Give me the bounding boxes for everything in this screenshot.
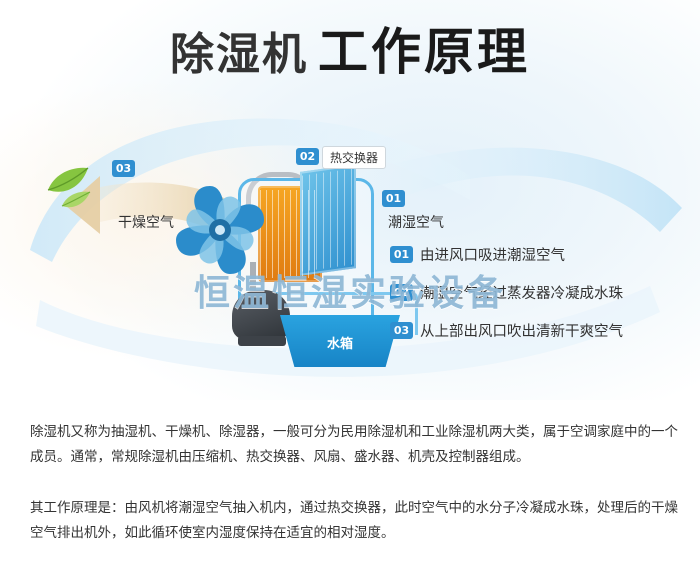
infographic-page: 除湿机工作原理 水箱 [0,0,700,566]
step-3-badge: 03 [390,322,413,339]
title-main-text: 除湿机 [170,27,308,83]
paragraph-2: 其工作原理是：由风机将潮湿空气抽入机内，通过热交换器，此时空气中的水分子冷凝成水… [30,496,680,546]
title-accent-text: 工作原理 [318,24,530,80]
illustration-area: 除湿机工作原理 水箱 [0,0,700,400]
step-1-text: 由进风口吸进潮湿空气 [420,248,565,264]
step-line-1: 01由进风口吸进潮湿空气 [390,244,565,265]
heat-exchanger-label: 热交换器 [322,146,386,169]
heat-exchanger-fins [302,168,354,271]
leaves-icon [40,156,110,216]
humid-air-label: 潮湿空气 [388,212,444,232]
compressor-base [238,336,286,346]
step-line-3: 03从上部出风口吹出清新干爽空气 [390,320,623,341]
body-text-area: 除湿机又称为抽湿机、干燥机、除湿器，一般可分为民用除湿机和工业除湿机两大类，属于… [0,400,700,566]
badge-02: 02 [296,148,319,165]
dry-air-label: 干燥空气 [118,212,174,232]
badge-01: 01 [382,190,405,207]
page-title: 除湿机工作原理 [0,24,700,83]
badge-03-left: 03 [112,160,135,177]
step-1-badge: 01 [390,246,413,263]
watermark-text: 恒温恒湿实验设备 [0,264,700,316]
step-3-text: 从上部出风口吹出清新干爽空气 [420,324,623,340]
paragraph-1: 除湿机又称为抽湿机、干燥机、除湿器，一般可分为民用除湿机和工业除湿机两大类，属于… [30,420,680,470]
water-tank-label: 水箱 [310,333,370,352]
